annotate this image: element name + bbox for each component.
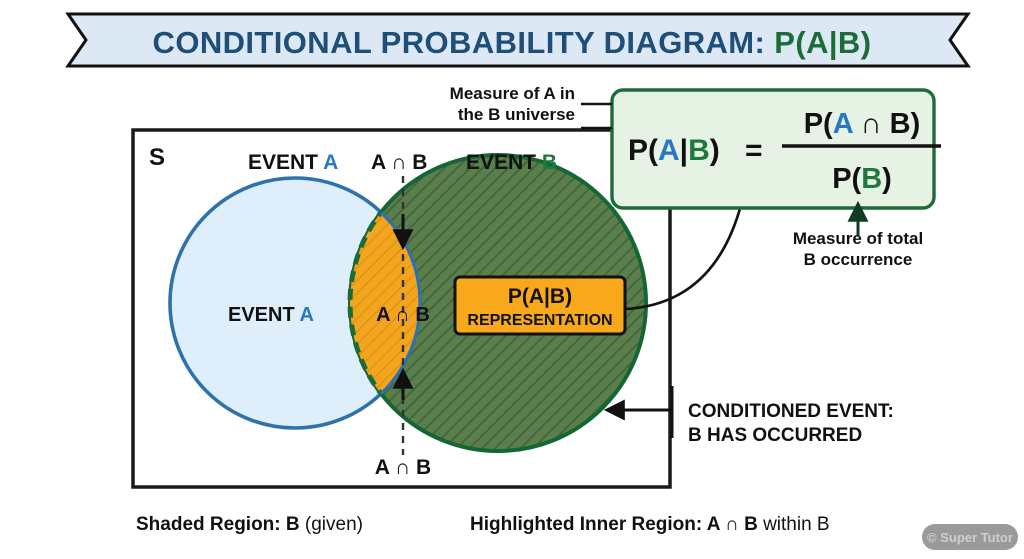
bottom-note-line-2: B occurrence (804, 250, 913, 269)
diagram-canvas: CONDITIONAL PROBABILITY DIAGRAM: P(A|B) … (0, 0, 1024, 559)
bottom-annotation: Measure of total B occurrence (793, 205, 923, 269)
intersection-inner-label: A ∩ B (376, 304, 430, 326)
top-note-line-1: Measure of A in (450, 84, 575, 103)
title-accent-text: P(A|B) (774, 25, 871, 60)
watermark-text: © Super Tutor (927, 530, 1013, 545)
formula-denominator: P(B) (832, 163, 892, 195)
pab-representation-callout[interactable]: P(A|B) REPRESENTATION (455, 277, 625, 334)
callout-line-2: REPRESENTATION (467, 312, 612, 329)
svg-text:CONDITIONAL PROBABILITY DIAGRA: CONDITIONAL PROBABILITY DIAGRAM: P(A|B) (153, 25, 872, 60)
footer-left: Shaded Region: B (given) (136, 514, 363, 535)
watermark: © Super Tutor (922, 524, 1018, 550)
event-a-inner-label: EVENT A (228, 304, 314, 326)
formula-box: P(A|B) = P(A ∩ B) P(B) (612, 90, 941, 208)
event-a-top-label: EVENT A (248, 151, 338, 174)
conditioned-line-1: CONDITIONED EVENT: (688, 401, 894, 422)
formula-numerator: P(A ∩ B) (804, 108, 921, 140)
intersection-top-label: A ∩ B (371, 151, 427, 174)
sample-space-label: S (149, 144, 165, 171)
event-b-top-label: EVENT B (466, 151, 557, 174)
formula-equals: = (745, 134, 763, 167)
intersection-bottom-label: A ∩ B (375, 456, 431, 479)
callout-line-1: P(A|B) (508, 285, 572, 308)
bottom-note-line-1: Measure of total (793, 229, 923, 248)
top-note-line-2: the B universe (458, 105, 575, 124)
top-annotation: Measure of A in the B universe (450, 84, 612, 128)
title-banner: CONDITIONAL PROBABILITY DIAGRAM: P(A|B) (68, 14, 968, 66)
footer-right: Highlighted Inner Region: A ∩ B within B (470, 514, 830, 535)
title-main-text: CONDITIONAL PROBABILITY DIAGRAM: (153, 25, 775, 60)
conditioned-line-2: B HAS OCCURRED (688, 425, 862, 446)
formula-lhs: P(A|B) (628, 134, 720, 167)
